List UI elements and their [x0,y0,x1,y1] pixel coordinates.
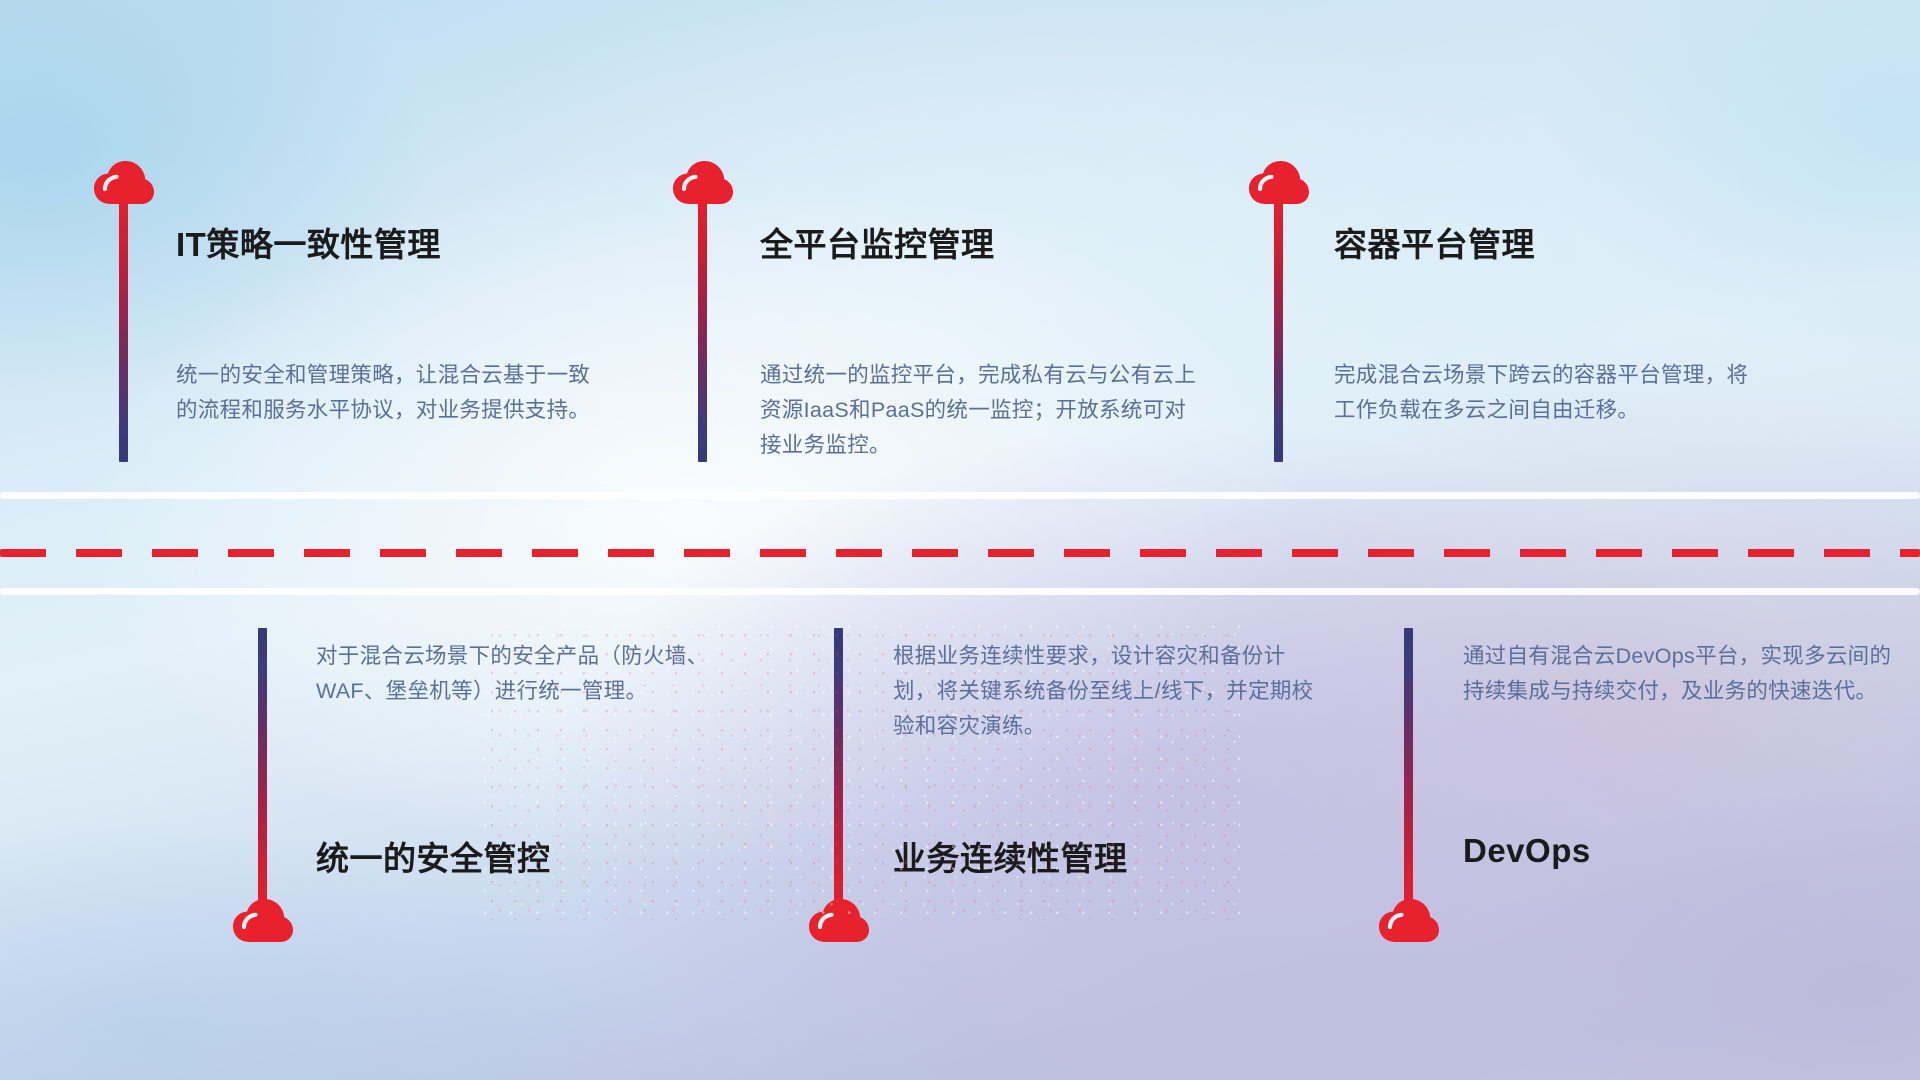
connector-stem [258,628,267,910]
feature-heading: DevOps [1463,832,1591,870]
feature-heading: IT策略一致性管理 [176,218,441,266]
cloud-pin-icon [808,898,870,944]
divider-dashed-line [0,549,1920,557]
connector-stem [1404,628,1413,910]
feature-description: 统一的安全和管理策略，让混合云基于一致的流程和服务水平协议，对业务提供支持。 [176,358,606,428]
feature-heading: 容器平台管理 [1334,218,1535,266]
feature-heading: 业务连续性管理 [893,832,1128,880]
connector-stem [834,628,843,910]
connector-stem [1274,200,1283,462]
divider-rule-top [0,492,1920,499]
feature-heading: 统一的安全管控 [316,832,551,880]
connector-stem [119,200,128,462]
feature-description: 对于混合云场景下的安全产品（防火墙、WAF、堡垒机等）进行统一管理。 [316,639,746,709]
feature-description: 通过自有混合云DevOps平台，实现多云间的持续集成与持续交付，及业务的快速迭代… [1463,639,1893,709]
feature-description: 通过统一的监控平台，完成私有云与公有云上资源IaaS和PaaS的统一监控；开放系… [760,358,1200,463]
feature-description: 根据业务连续性要求，设计容灾和备份计划，将关键系统备份至线上/线下，并定期校验和… [893,639,1323,744]
cloud-pin-icon [1378,898,1440,944]
connector-stem [698,200,707,462]
divider-rule-bottom [0,588,1920,595]
feature-heading: 全平台监控管理 [760,218,995,266]
infographic-canvas: IT策略一致性管理 统一的安全和管理策略，让混合云基于一致的流程和服务水平协议，… [0,0,1920,1080]
cloud-pin-icon [232,898,294,944]
feature-description: 完成混合云场景下跨云的容器平台管理，将工作负载在多云之间自由迁移。 [1334,358,1764,428]
